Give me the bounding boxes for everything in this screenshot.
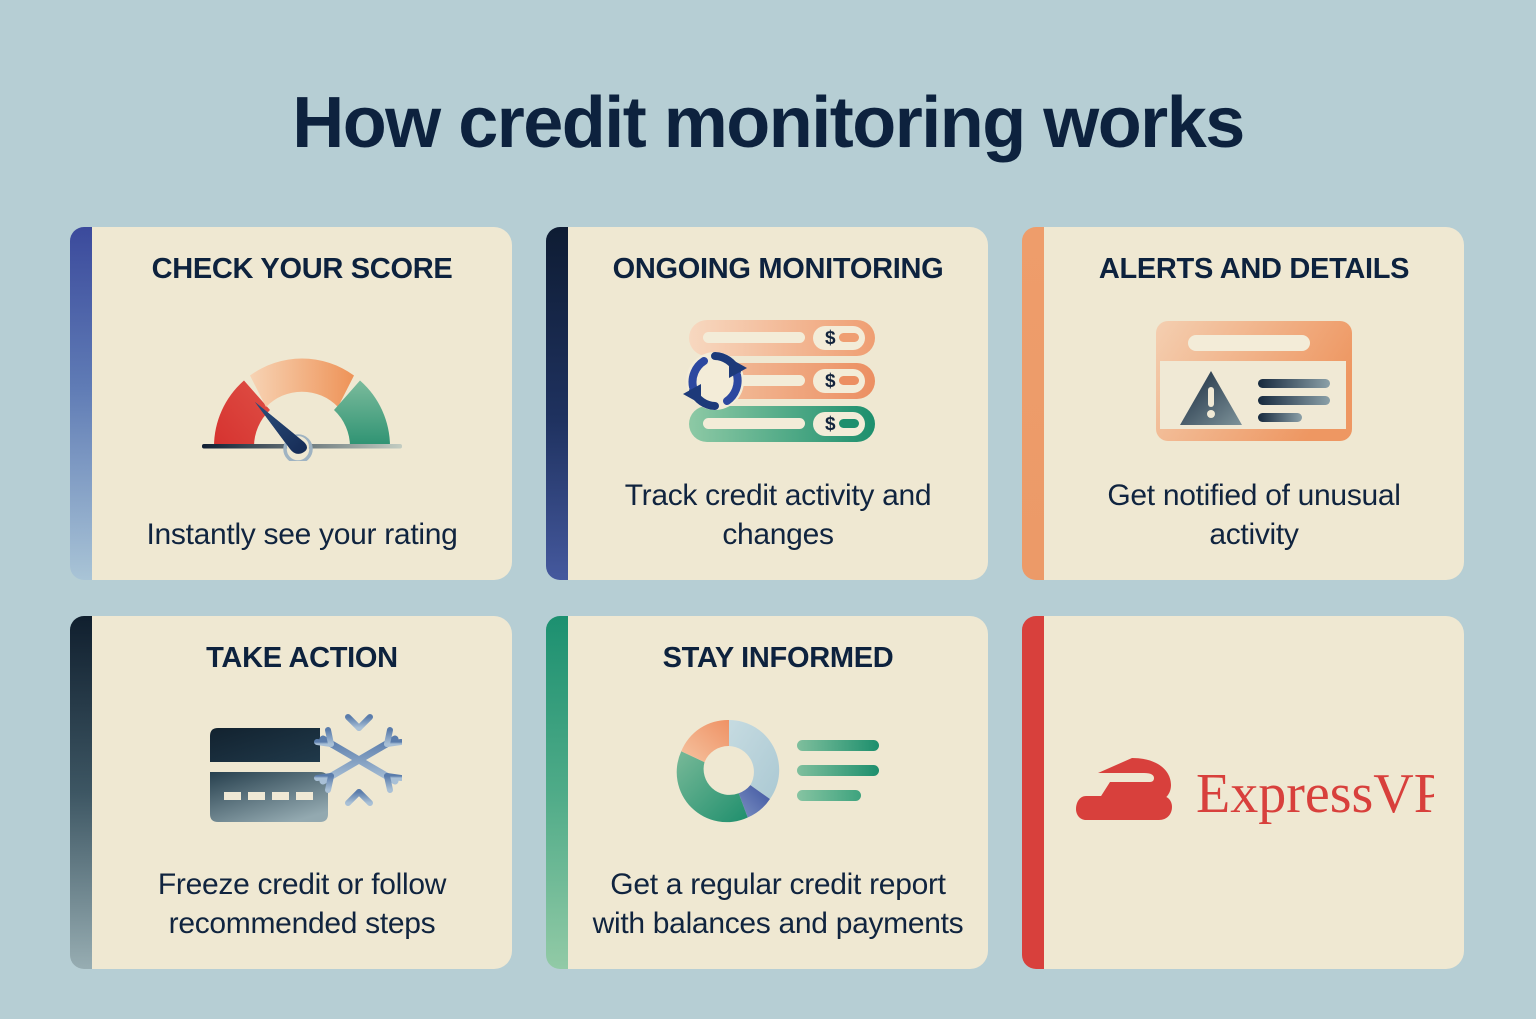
card-title: STAY INFORMED bbox=[663, 643, 894, 675]
card-take-action[interactable]: TAKE ACTION bbox=[70, 616, 512, 969]
infographic-page: How credit monitoring works CHECK YOUR S… bbox=[0, 0, 1536, 1019]
donut-chart-report-icon bbox=[586, 675, 970, 865]
card-accent-bar bbox=[546, 616, 568, 969]
card-ongoing-monitoring[interactable]: ONGOING MONITORING bbox=[546, 227, 988, 580]
cards-grid: CHECK YOUR SCORE bbox=[70, 227, 1466, 967]
card-accent-bar bbox=[70, 616, 92, 969]
card-body: STAY INFORMED bbox=[568, 616, 988, 969]
card-stay-informed[interactable]: STAY INFORMED bbox=[546, 616, 988, 969]
card-accent-bar bbox=[546, 227, 568, 580]
card-title: TAKE ACTION bbox=[206, 643, 398, 675]
expressvpn-wordmark: ExpressVPN bbox=[1196, 763, 1434, 825]
card-title: ONGOING MONITORING bbox=[613, 254, 944, 286]
card-body: ALERTS AND DETAILS bbox=[1044, 227, 1464, 580]
card-body: ExpressVPN bbox=[1044, 616, 1464, 969]
card-title: CHECK YOUR SCORE bbox=[152, 254, 453, 286]
card-expressvpn-logo[interactable]: ExpressVPN bbox=[1022, 616, 1464, 969]
card-description: Track credit activity and changes bbox=[586, 476, 970, 558]
alert-window-icon bbox=[1062, 286, 1446, 476]
card-title: ALERTS AND DETAILS bbox=[1099, 254, 1409, 286]
svg-text:$: $ bbox=[825, 328, 836, 349]
svg-text:$: $ bbox=[825, 414, 836, 435]
frozen-credit-card-icon bbox=[110, 675, 494, 865]
page-title: How credit monitoring works bbox=[0, 86, 1536, 162]
card-description: Get a regular credit report with balance… bbox=[586, 865, 970, 947]
card-accent-bar bbox=[1022, 616, 1044, 969]
svg-text:$: $ bbox=[825, 371, 836, 392]
card-description: Freeze credit or follow recommended step… bbox=[110, 865, 494, 947]
speedometer-gauge-icon bbox=[110, 286, 494, 515]
card-accent-bar bbox=[1022, 227, 1044, 580]
expressvpn-logo: ExpressVPN bbox=[1044, 616, 1464, 969]
card-alerts-and-details[interactable]: ALERTS AND DETAILS bbox=[1022, 227, 1464, 580]
card-accent-bar bbox=[70, 227, 92, 580]
card-body: ONGOING MONITORING bbox=[568, 227, 988, 580]
card-description: Get notified of unusual activity bbox=[1062, 476, 1446, 558]
card-description: Instantly see your rating bbox=[146, 515, 457, 558]
card-body: CHECK YOUR SCORE bbox=[92, 227, 512, 580]
transaction-bars-refresh-icon: $ $ $ bbox=[586, 286, 970, 476]
card-body: TAKE ACTION bbox=[92, 616, 512, 969]
card-check-your-score[interactable]: CHECK YOUR SCORE bbox=[70, 227, 512, 580]
